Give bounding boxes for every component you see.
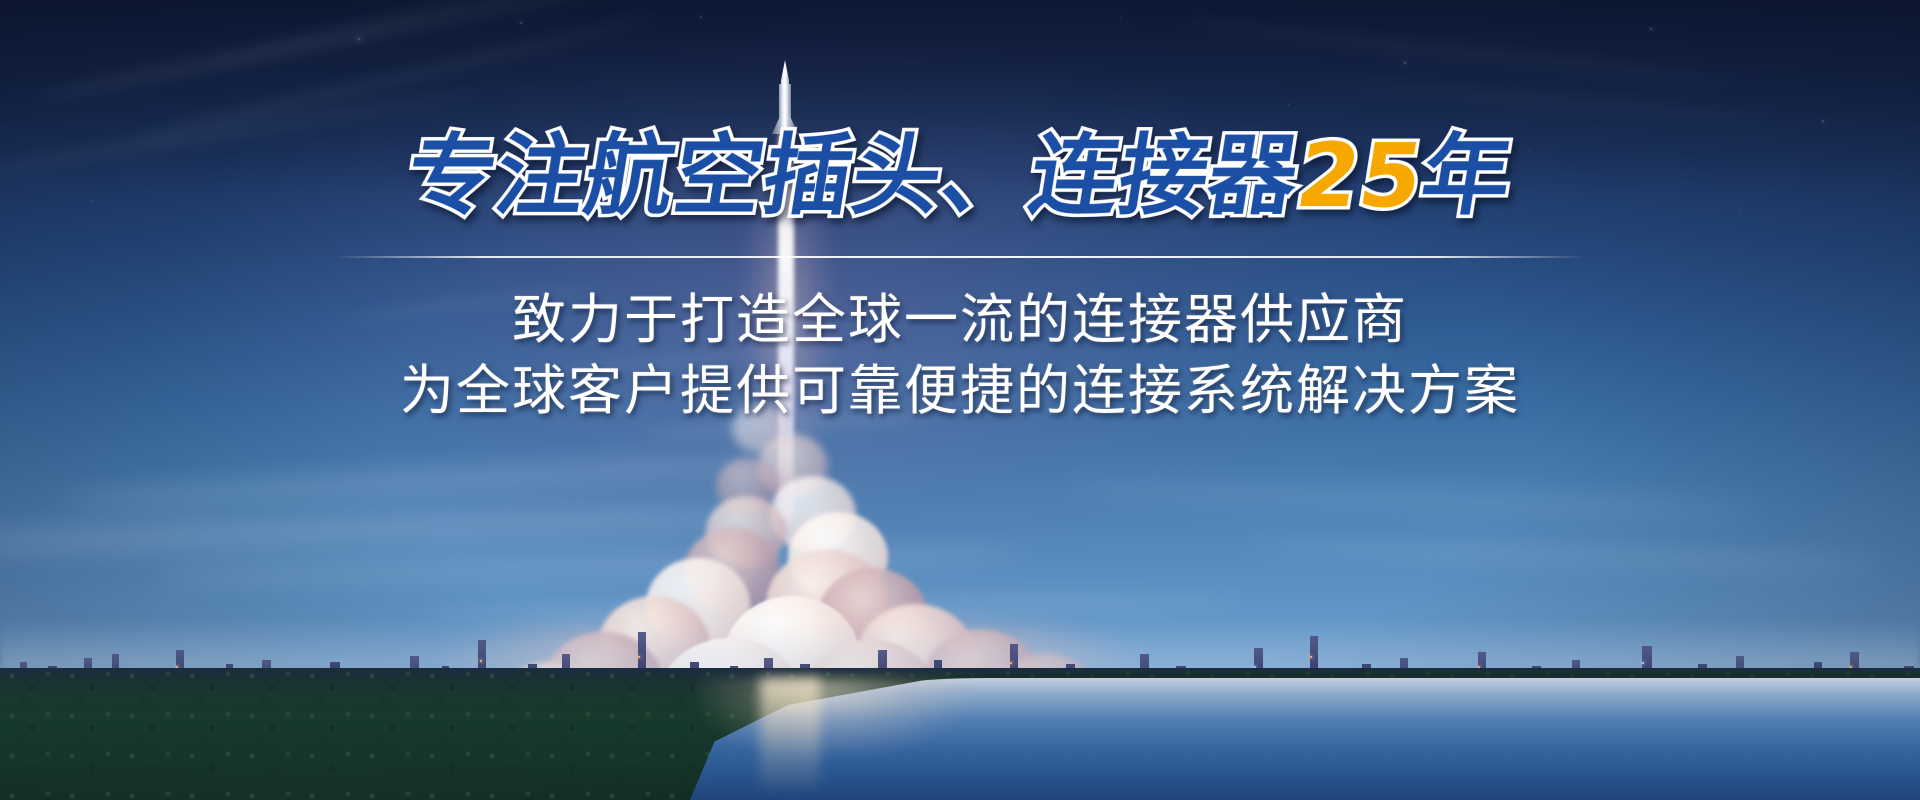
banner-content: 专注航空插头、连接器25年 致力于打造全球一流的连接器供应商为全球客户提供可靠便… (0, 0, 1920, 800)
hero-banner: 专注航空插头、连接器25年 致力于打造全球一流的连接器供应商为全球客户提供可靠便… (0, 0, 1920, 800)
subtitle-line: 致力于打造全球一流的连接器供应商 (400, 286, 1520, 355)
banner-subtitle: 致力于打造全球一流的连接器供应商为全球客户提供可靠便捷的连接系统解决方案 (400, 284, 1520, 428)
subtitle-line: 为全球客户提供可靠便捷的连接系统解决方案 (400, 357, 1520, 426)
headline-divider (335, 256, 1585, 258)
banner-headline: 专注航空插头、连接器25年 (401, 132, 1518, 220)
headline-segment-blue: 专注航空插头、连接器 (400, 124, 1306, 227)
headline-segment-gold: 25 (1290, 124, 1431, 227)
headline-segment-blue: 年 (1415, 124, 1520, 227)
